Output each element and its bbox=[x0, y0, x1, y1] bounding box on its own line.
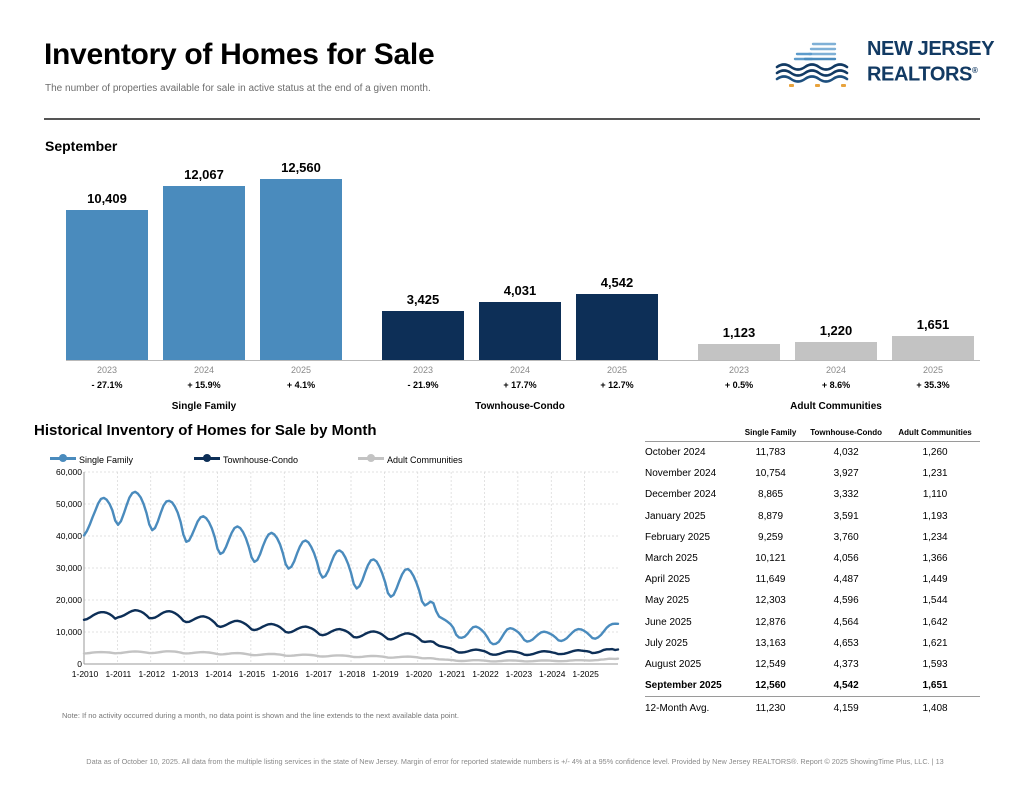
cell-month: November 2024 bbox=[645, 463, 739, 484]
bar-year-label: 2025 bbox=[892, 365, 974, 375]
cell-single-family: 12,560 bbox=[739, 675, 802, 697]
legend-label: Single Family bbox=[79, 455, 133, 465]
legend-swatch-icon bbox=[194, 457, 220, 460]
x-axis-tick-label: 1-2021 bbox=[435, 669, 469, 679]
bar-group-label: Adult Communities bbox=[698, 401, 974, 412]
bar-2025[interactable]: 4,5422025+ 12.7% bbox=[576, 165, 658, 360]
cell-single-family: 11,783 bbox=[739, 442, 802, 464]
column-header-single-family: Single Family bbox=[739, 428, 802, 442]
table-row: July 202513,1634,6531,621 bbox=[645, 633, 980, 654]
month-heading: September bbox=[45, 138, 117, 154]
bar-group-label: Townhouse-Condo bbox=[382, 401, 658, 412]
cell-adult-communities: 1,231 bbox=[890, 463, 980, 484]
cell-month: June 2025 bbox=[645, 612, 739, 633]
cell-townhouse-condo: 4,159 bbox=[802, 697, 890, 720]
new-jersey-realtors-logo: NEW JERSEY REALTORS® bbox=[775, 38, 987, 90]
bar-pct-change-label: + 17.7% bbox=[479, 380, 561, 390]
page-header: Inventory of Homes for Sale The number o… bbox=[0, 0, 1024, 120]
cell-single-family: 13,163 bbox=[739, 633, 802, 654]
legend-marker-icon bbox=[203, 454, 211, 462]
cell-single-family: 8,879 bbox=[739, 506, 802, 527]
historical-chart-title: Historical Inventory of Homes for Sale b… bbox=[34, 422, 377, 439]
bar-value-label: 1,123 bbox=[698, 325, 780, 340]
bar-pct-change-label: + 0.5% bbox=[698, 380, 780, 390]
x-axis-tick-label: 1-2011 bbox=[101, 669, 135, 679]
bar-group-townhouse-condo: 3,4252023- 21.9%4,0312024+ 17.7%4,542202… bbox=[382, 165, 672, 360]
cell-single-family: 11,649 bbox=[739, 569, 802, 590]
legend-item-adult-communities[interactable]: Adult Communities bbox=[358, 450, 463, 464]
x-axis-tick-label: 1-2020 bbox=[402, 669, 436, 679]
bar-pct-change-label: + 4.1% bbox=[260, 380, 342, 390]
bar-value-label: 1,220 bbox=[795, 323, 877, 338]
cell-adult-communities: 1,366 bbox=[890, 548, 980, 569]
cell-adult-communities: 1,234 bbox=[890, 527, 980, 548]
y-axis-tick-label: 20,000 bbox=[34, 595, 82, 605]
legend-marker-icon bbox=[59, 454, 67, 462]
bar-2024[interactable]: 12,0672024+ 15.9% bbox=[163, 165, 245, 360]
table-row: June 202512,8764,5641,642 bbox=[645, 612, 980, 633]
monthly-inventory-table: Single Family Townhouse-Condo Adult Comm… bbox=[645, 428, 980, 719]
page-footer: Data as of October 10, 2025. All data fr… bbox=[50, 757, 980, 766]
cell-adult-communities: 1,110 bbox=[890, 484, 980, 505]
logo-line-new-jersey: NEW JERSEY bbox=[867, 39, 987, 60]
cell-month: December 2024 bbox=[645, 484, 739, 505]
cell-month: 12-Month Avg. bbox=[645, 697, 739, 720]
bar-2023[interactable]: 10,4092023- 27.1% bbox=[66, 165, 148, 360]
bar-year-label: 2023 bbox=[382, 365, 464, 375]
bar-year-label: 2024 bbox=[479, 365, 561, 375]
bar-rect bbox=[382, 311, 464, 360]
cell-single-family: 11,230 bbox=[739, 697, 802, 720]
cell-adult-communities: 1,408 bbox=[890, 697, 980, 720]
cell-month: May 2025 bbox=[645, 590, 739, 611]
table-header-row: Single Family Townhouse-Condo Adult Comm… bbox=[645, 428, 980, 442]
bar-2024[interactable]: 1,2202024+ 8.6% bbox=[795, 165, 877, 360]
bar-chart-baseline bbox=[66, 360, 980, 361]
cell-townhouse-condo: 4,032 bbox=[802, 442, 890, 464]
x-axis-tick-label: 1-2025 bbox=[569, 669, 603, 679]
legend-swatch-icon bbox=[358, 457, 384, 460]
table-row: May 202512,3034,5961,544 bbox=[645, 590, 980, 611]
x-axis-tick-label: 1-2013 bbox=[168, 669, 202, 679]
cell-month: August 2025 bbox=[645, 654, 739, 675]
bar-value-label: 1,651 bbox=[892, 317, 974, 332]
logo-line-realtors: REALTORS® bbox=[867, 60, 987, 86]
x-axis-tick-label: 1-2010 bbox=[68, 669, 102, 679]
cell-townhouse-condo: 3,927 bbox=[802, 463, 890, 484]
column-header-adult-communities: Adult Communities bbox=[890, 428, 980, 442]
cell-single-family: 8,865 bbox=[739, 484, 802, 505]
cell-month: January 2025 bbox=[645, 506, 739, 527]
cell-single-family: 10,121 bbox=[739, 548, 802, 569]
cell-month: September 2025 bbox=[645, 675, 739, 697]
cell-townhouse-condo: 4,056 bbox=[802, 548, 890, 569]
table-row: March 202510,1214,0561,366 bbox=[645, 548, 980, 569]
table-body: October 202411,7834,0321,260November 202… bbox=[645, 442, 980, 720]
header-divider bbox=[44, 118, 980, 120]
cell-townhouse-condo: 3,760 bbox=[802, 527, 890, 548]
bar-rect bbox=[795, 342, 877, 360]
bar-2023[interactable]: 1,1232023+ 0.5% bbox=[698, 165, 780, 360]
y-axis-tick-label: 40,000 bbox=[34, 531, 82, 541]
bar-year-label: 2024 bbox=[795, 365, 877, 375]
x-axis-tick-label: 1-2015 bbox=[235, 669, 269, 679]
table-row: September 202512,5604,5421,651 bbox=[645, 675, 980, 697]
page-subtitle: The number of properties available for s… bbox=[45, 83, 431, 94]
cell-month: March 2025 bbox=[645, 548, 739, 569]
cell-adult-communities: 1,621 bbox=[890, 633, 980, 654]
bar-value-label: 10,409 bbox=[66, 191, 148, 206]
y-axis-tick-label: 50,000 bbox=[34, 499, 82, 509]
bar-year-label: 2025 bbox=[576, 365, 658, 375]
cell-adult-communities: 1,260 bbox=[890, 442, 980, 464]
bar-pct-change-label: + 12.7% bbox=[576, 380, 658, 390]
cell-month: October 2024 bbox=[645, 442, 739, 464]
bar-pct-change-label: + 35.3% bbox=[892, 380, 974, 390]
y-axis-tick-label: 30,000 bbox=[34, 563, 82, 573]
bar-pct-change-label: - 21.9% bbox=[382, 380, 464, 390]
cell-townhouse-condo: 3,332 bbox=[802, 484, 890, 505]
table-row: November 202410,7543,9271,231 bbox=[645, 463, 980, 484]
bar-rect bbox=[576, 294, 658, 360]
bar-rect bbox=[163, 186, 245, 360]
bar-group-adult-communities: 1,1232023+ 0.5%1,2202024+ 8.6%1,6512025+… bbox=[698, 165, 988, 360]
x-axis-tick-label: 1-2018 bbox=[335, 669, 369, 679]
x-axis-tick-label: 1-2014 bbox=[202, 669, 236, 679]
legend-marker-icon bbox=[367, 454, 375, 462]
bar-year-label: 2023 bbox=[698, 365, 780, 375]
x-axis-tick-label: 1-2016 bbox=[268, 669, 302, 679]
historical-line-chart: 010,00020,00030,00040,00050,00060,0001-2… bbox=[34, 466, 624, 691]
x-axis-tick-label: 1-2012 bbox=[135, 669, 169, 679]
legend-label: Adult Communities bbox=[387, 455, 463, 465]
y-axis-tick-label: 60,000 bbox=[34, 467, 82, 477]
bar-rect bbox=[260, 179, 342, 360]
cell-townhouse-condo: 3,591 bbox=[802, 506, 890, 527]
bar-pct-change-label: + 8.6% bbox=[795, 380, 877, 390]
column-header-month bbox=[645, 428, 739, 442]
cell-townhouse-condo: 4,653 bbox=[802, 633, 890, 654]
cell-adult-communities: 1,593 bbox=[890, 654, 980, 675]
bar-rect bbox=[892, 336, 974, 360]
bar-value-label: 4,542 bbox=[576, 275, 658, 290]
bar-year-label: 2023 bbox=[66, 365, 148, 375]
table-row: February 20259,2593,7601,234 bbox=[645, 527, 980, 548]
bar-2025[interactable]: 12,5602025+ 4.1% bbox=[260, 165, 342, 360]
cell-adult-communities: 1,193 bbox=[890, 506, 980, 527]
page-title: Inventory of Homes for Sale bbox=[44, 38, 434, 72]
bar-pct-change-label: - 27.1% bbox=[66, 380, 148, 390]
table-row: 12-Month Avg.11,2304,1591,408 bbox=[645, 697, 980, 720]
bar-value-label: 3,425 bbox=[382, 292, 464, 307]
cell-single-family: 10,754 bbox=[739, 463, 802, 484]
logo-wordmark: NEW JERSEY REALTORS® bbox=[867, 39, 987, 86]
table-row: December 20248,8653,3321,110 bbox=[645, 484, 980, 505]
registered-trademark-icon: ® bbox=[972, 66, 978, 75]
cell-adult-communities: 1,544 bbox=[890, 590, 980, 611]
bar-value-label: 12,067 bbox=[163, 167, 245, 182]
bar-rect bbox=[479, 302, 561, 360]
bar-year-label: 2024 bbox=[163, 365, 245, 375]
bar-year-label: 2025 bbox=[260, 365, 342, 375]
cell-single-family: 12,876 bbox=[739, 612, 802, 633]
cell-adult-communities: 1,642 bbox=[890, 612, 980, 633]
x-axis-tick-label: 1-2017 bbox=[302, 669, 336, 679]
legend-swatch-icon bbox=[50, 457, 76, 460]
logo-mark-icon bbox=[775, 40, 865, 88]
cell-townhouse-condo: 4,542 bbox=[802, 675, 890, 697]
bar-2025[interactable]: 1,6512025+ 35.3% bbox=[892, 165, 974, 360]
cell-month: February 2025 bbox=[645, 527, 739, 548]
x-axis-tick-label: 1-2023 bbox=[502, 669, 536, 679]
cell-adult-communities: 1,651 bbox=[890, 675, 980, 697]
cell-adult-communities: 1,449 bbox=[890, 569, 980, 590]
legend-item-townhouse-condo[interactable]: Townhouse-Condo bbox=[194, 450, 298, 464]
table-row: October 202411,7834,0321,260 bbox=[645, 442, 980, 464]
bar-pct-change-label: + 15.9% bbox=[163, 380, 245, 390]
bar-value-label: 4,031 bbox=[479, 283, 561, 298]
y-axis-tick-label: 0 bbox=[34, 659, 82, 669]
bar-rect bbox=[698, 344, 780, 360]
cell-townhouse-condo: 4,596 bbox=[802, 590, 890, 611]
x-axis-tick-label: 1-2019 bbox=[368, 669, 402, 679]
chart-footnote: Note: If no activity occurred during a m… bbox=[62, 711, 459, 720]
table-row: August 202512,5494,3731,593 bbox=[645, 654, 980, 675]
legend-label: Townhouse-Condo bbox=[223, 455, 298, 465]
september-bar-chart: 10,4092023- 27.1%12,0672024+ 15.9%12,560… bbox=[44, 165, 980, 405]
x-axis-tick-label: 1-2024 bbox=[535, 669, 569, 679]
cell-townhouse-condo: 4,487 bbox=[802, 569, 890, 590]
bar-value-label: 12,560 bbox=[260, 160, 342, 175]
cell-townhouse-condo: 4,373 bbox=[802, 654, 890, 675]
cell-month: July 2025 bbox=[645, 633, 739, 654]
cell-single-family: 9,259 bbox=[739, 527, 802, 548]
bar-group-single-family: 10,4092023- 27.1%12,0672024+ 15.9%12,560… bbox=[66, 165, 356, 360]
y-axis-tick-label: 10,000 bbox=[34, 627, 82, 637]
x-axis-tick-label: 1-2022 bbox=[469, 669, 503, 679]
table-row: April 202511,6494,4871,449 bbox=[645, 569, 980, 590]
table-row: January 20258,8793,5911,193 bbox=[645, 506, 980, 527]
bar-rect bbox=[66, 210, 148, 360]
cell-single-family: 12,549 bbox=[739, 654, 802, 675]
bar-2024[interactable]: 4,0312024+ 17.7% bbox=[479, 165, 561, 360]
table-header: Single Family Townhouse-Condo Adult Comm… bbox=[645, 428, 980, 442]
column-header-townhouse-condo: Townhouse-Condo bbox=[802, 428, 890, 442]
cell-townhouse-condo: 4,564 bbox=[802, 612, 890, 633]
line-chart-canvas bbox=[34, 466, 624, 691]
cell-single-family: 12,303 bbox=[739, 590, 802, 611]
cell-month: April 2025 bbox=[645, 569, 739, 590]
legend-item-single-family[interactable]: Single Family bbox=[50, 450, 133, 464]
bar-group-label: Single Family bbox=[66, 401, 342, 412]
bar-2023[interactable]: 3,4252023- 21.9% bbox=[382, 165, 464, 360]
